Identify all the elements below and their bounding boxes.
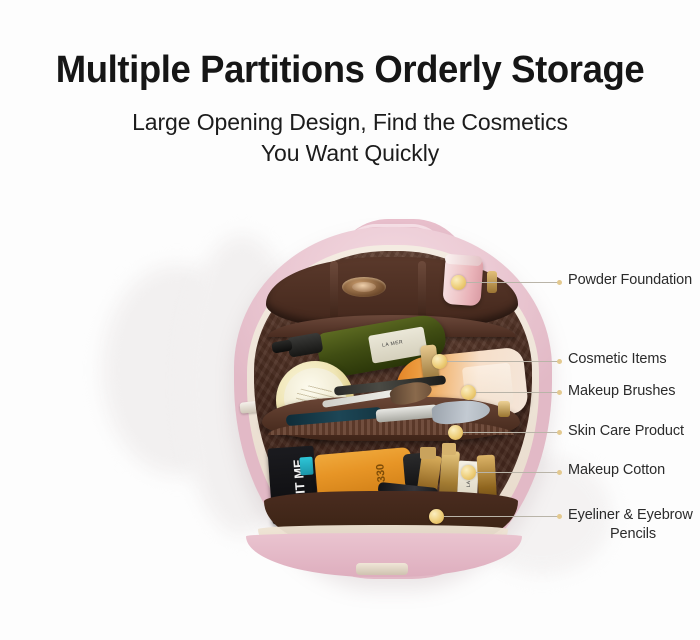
- foundation-shade-text: 330: [374, 463, 388, 482]
- callout-dot-powder-foundation: [451, 275, 466, 290]
- callout-label-eyeliner-line2: Pencils: [568, 525, 698, 544]
- gold-compact-inner: [352, 282, 376, 292]
- callout-dot-skin-care-product: [448, 425, 463, 440]
- pocket-divider: [330, 261, 338, 319]
- pocket-divider: [418, 261, 426, 319]
- callout-dot-eyeliner-pencils: [429, 509, 444, 524]
- callout-dot-cosmetic-items: [432, 354, 447, 369]
- callout-label-skin-care-product: Skin Care Product: [568, 422, 684, 441]
- callout-endpoint-skin-care-product: [557, 430, 562, 435]
- bag-foot-tab: [356, 563, 408, 575]
- callout-line-makeup-cotton: [476, 472, 558, 473]
- callout-line-eyeliner-pencils: [444, 516, 558, 517]
- product-infographic: Multiple Partitions Orderly Storage Larg…: [0, 0, 700, 640]
- fit-me-teal-badge: [299, 457, 313, 476]
- callout-line-powder-foundation: [466, 282, 558, 283]
- callout-label-makeup-brushes: Makeup Brushes: [568, 382, 675, 401]
- callout-dot-makeup-cotton: [461, 465, 476, 480]
- callout-line-makeup-brushes: [476, 392, 558, 393]
- bag-hardware-clip: [498, 401, 510, 417]
- subtitle-line-2: You Want Quickly: [0, 139, 700, 168]
- callout-label-eyeliner-line1: Eyeliner & Eyebrow: [568, 507, 693, 523]
- callout-endpoint-eyeliner-pencils: [557, 514, 562, 519]
- callout-line-cosmetic-items: [447, 361, 558, 362]
- dropper-cap: [420, 447, 436, 459]
- page-title: Multiple Partitions Orderly Storage: [14, 48, 686, 92]
- callout-endpoint-cosmetic-items: [557, 359, 562, 364]
- callout-endpoint-makeup-cotton: [557, 470, 562, 475]
- product-photo: LA MER FIT ME 330: [222, 205, 582, 590]
- dropper-cap: [442, 443, 456, 455]
- callout-dot-makeup-brushes: [461, 385, 476, 400]
- subtitle-line-1: Large Opening Design, Find the Cosmetics: [0, 108, 700, 137]
- callout-line-skin-care-product: [463, 432, 558, 433]
- callout-endpoint-makeup-brushes: [557, 390, 562, 395]
- callout-label-makeup-cotton: Makeup Cotton: [568, 461, 665, 480]
- callout-endpoint-powder-foundation: [557, 280, 562, 285]
- callout-label-cosmetic-items: Cosmetic Items: [568, 350, 667, 369]
- callout-label-powder-foundation: Powder Foundation: [568, 271, 692, 290]
- callout-label-eyeliner-pencils: Eyeliner & Eyebrow Pencils: [568, 506, 698, 544]
